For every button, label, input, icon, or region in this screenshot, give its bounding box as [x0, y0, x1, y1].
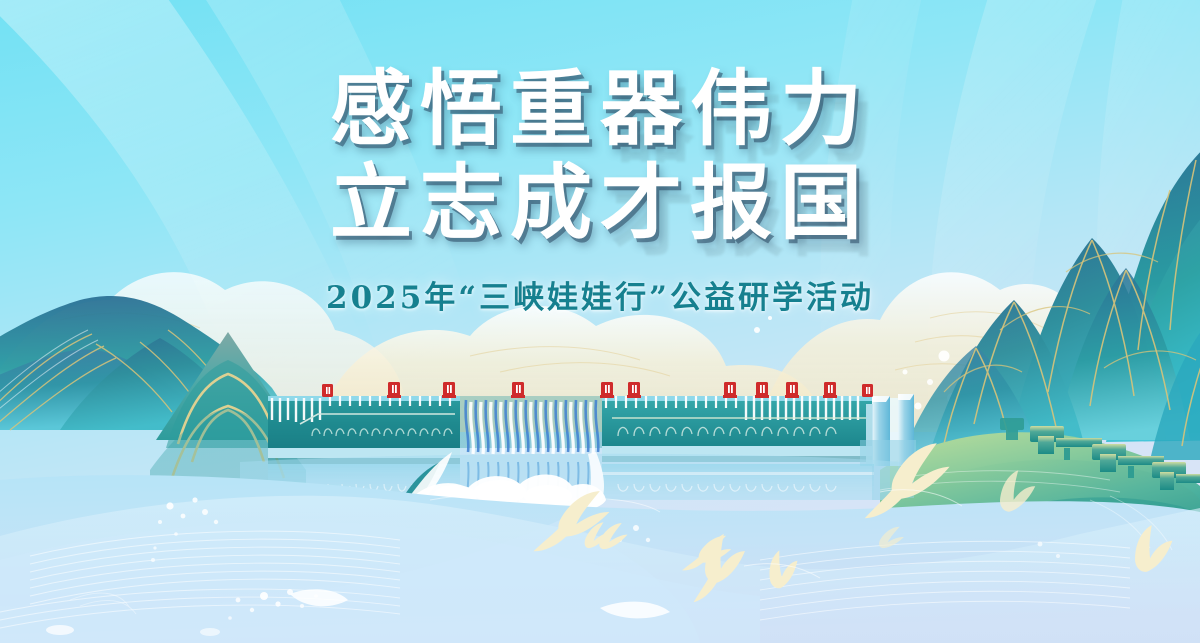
cloud-bank-center — [330, 306, 820, 432]
dam-tower — [860, 394, 916, 466]
dam-right-section — [602, 396, 874, 462]
subtitle: 2025年“三峡娃娃行”公益研学活动 — [0, 272, 1200, 317]
cloud-dots — [754, 316, 966, 410]
cloud-hairlines — [60, 312, 1048, 382]
dam-spillway — [460, 396, 602, 454]
spillway-discharge — [372, 452, 604, 528]
water-hairlines — [0, 531, 1130, 628]
poster-banner: 器伟力 才报国 感悟重器伟力 立志成才报国 2025年“三峡娃娃行”公益研学活动 — [0, 0, 1200, 643]
title-line-2: 立志成才报国 — [0, 160, 1200, 248]
ship-lock-left — [1000, 418, 1024, 440]
reflection-right — [602, 464, 874, 500]
dam-left-section — [268, 396, 460, 464]
bird-trails — [744, 490, 962, 578]
water-foam-patches — [290, 589, 670, 618]
spillway-foam — [410, 474, 606, 518]
reflection-left — [268, 464, 460, 502]
reflection-spillway — [467, 462, 588, 502]
title-block: 感悟重器伟力 立志成才报国 2025年“三峡娃娃行”公益研学活动 — [0, 66, 1200, 317]
ship-lock-supports — [1064, 448, 1134, 478]
ship-lock-steps — [1030, 426, 1200, 490]
reflection-tower — [872, 466, 914, 500]
title-line-1: 感悟重器伟力 — [0, 66, 1200, 154]
water-bubbles — [46, 497, 1060, 636]
swallow-bird — [524, 441, 1180, 603]
gantry-cranes — [322, 382, 873, 398]
peak-with-gold-arcs — [150, 332, 306, 486]
